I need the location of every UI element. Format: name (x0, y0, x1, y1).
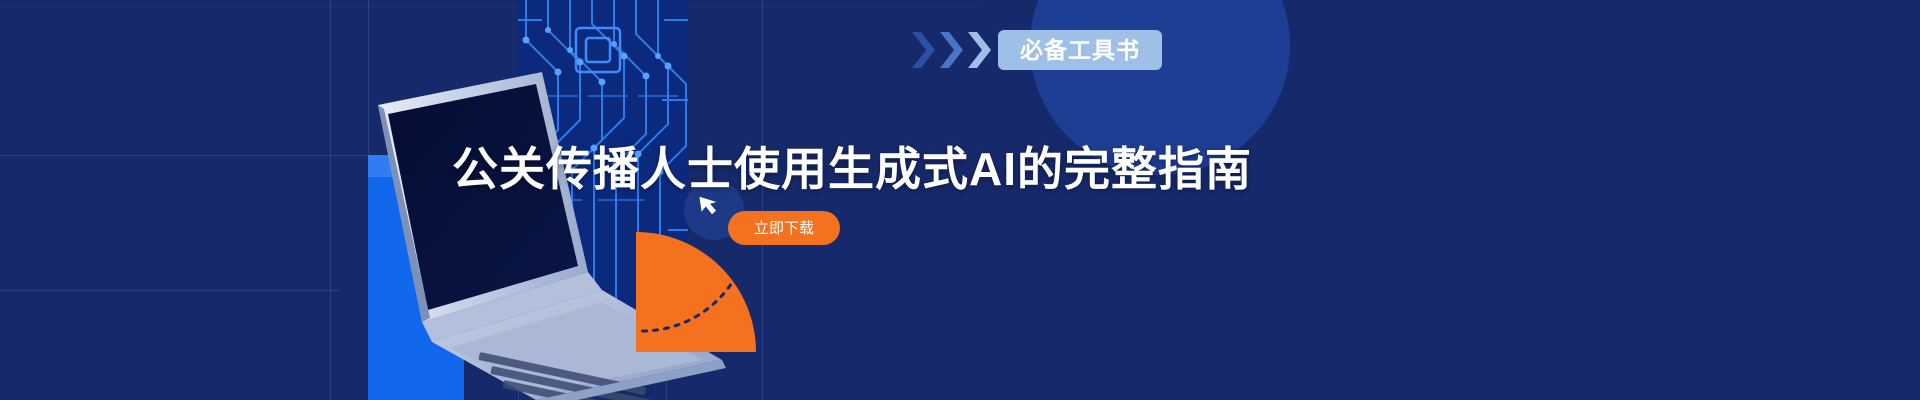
chevron-right-icon (966, 28, 992, 72)
page-title: 公关传播人士使用生成式AI的完整指南 (452, 144, 1252, 195)
download-button[interactable]: 立即下载 (728, 211, 840, 245)
chevron-right-icon (938, 28, 964, 72)
badge: 必备工具书 (910, 28, 1162, 72)
badge-pill: 必备工具书 (998, 30, 1162, 70)
promo-banner: 必备工具书 公关传播人士使用生成式AI的完整指南 立即下载 (0, 0, 1920, 400)
grid-line-horizontal (0, 290, 340, 291)
badge-label: 必备工具书 (1020, 39, 1140, 62)
chevron-right-icon (910, 28, 936, 72)
download-button-label: 立即下载 (754, 221, 814, 236)
cursor-arrow-icon (699, 193, 727, 221)
grid-line-horizontal (0, 6, 980, 7)
